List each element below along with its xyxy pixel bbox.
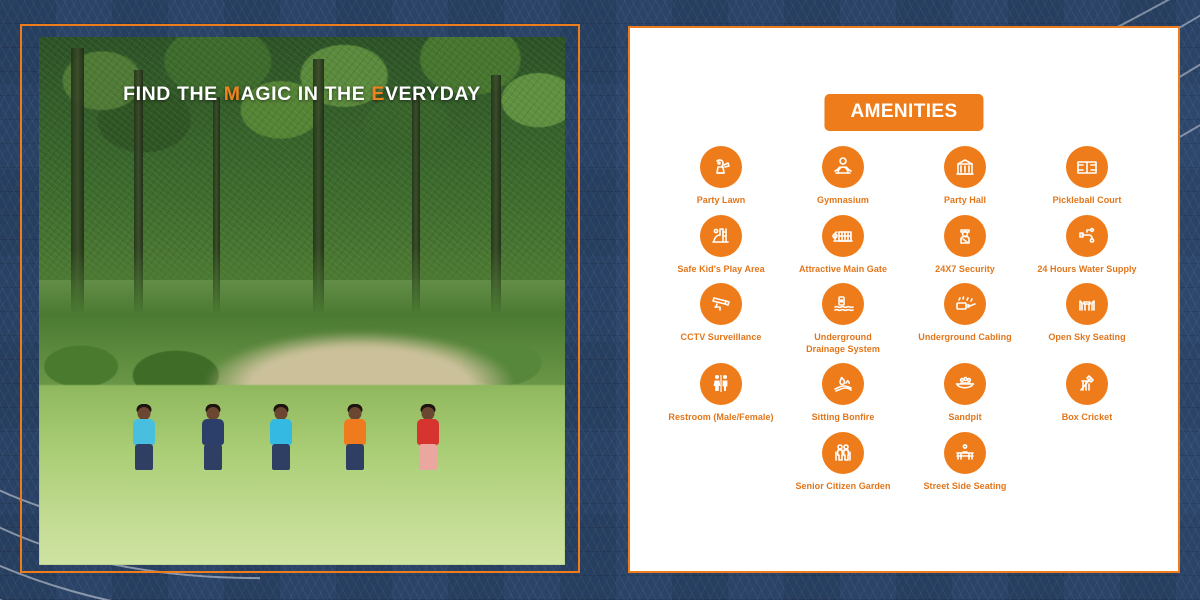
amenity-label: Pickleball Court: [1053, 195, 1122, 207]
sandpit-icon: [944, 363, 986, 405]
amenity-label: Restroom (Male/Female): [668, 412, 773, 424]
amenity-label: Street Side Seating: [924, 481, 1007, 493]
amenities-panel: AMENITIES Party Lawn Gymnasium Party Hal…: [628, 26, 1180, 573]
amenity-label: Box Cricket: [1062, 412, 1113, 424]
restroom-icon: [700, 363, 742, 405]
amenity-item[interactable]: Box Cricket: [1026, 363, 1148, 424]
playground-slide-icon: [700, 215, 742, 257]
amenity-item[interactable]: Attractive Main Gate: [782, 215, 904, 276]
amenity-label: CCTV Surveillance: [681, 332, 762, 344]
headline-part-2: AGIC IN THE: [241, 83, 372, 105]
water-tap-icon: [1066, 215, 1108, 257]
amenity-label: Attractive Main Gate: [799, 264, 887, 276]
amenity-item[interactable]: Underground Cabling: [904, 283, 1026, 355]
amenity-item[interactable]: Safe Kid's Play Area: [660, 215, 782, 276]
open-sky-seating-icon: [1066, 283, 1108, 325]
headline-part-3: VERYDAY: [385, 83, 481, 105]
amenity-label: Party Lawn: [697, 195, 746, 207]
amenity-item[interactable]: Sandpit: [904, 363, 1026, 424]
gymnasium-icon: [822, 146, 864, 188]
amenity-item[interactable]: Senior Citizen Garden: [782, 432, 904, 493]
amenity-item[interactable]: Party Lawn: [660, 146, 782, 207]
amenities-row: CCTV Surveillance UndergroundDrainage Sy…: [630, 283, 1178, 363]
amenity-item[interactable]: Street Side Seating: [904, 432, 1026, 493]
amenity-label: Open Sky Seating: [1048, 332, 1125, 344]
drainage-icon: [822, 283, 864, 325]
hero-photo-frame: FIND THE MAGIC IN THE EVERYDAY: [20, 24, 580, 573]
amenity-label: Party Hall: [944, 195, 986, 207]
security-guard-icon: [944, 215, 986, 257]
amenities-grid: Party Lawn Gymnasium Party Hall Pickleba…: [630, 146, 1178, 500]
amenity-item[interactable]: Open Sky Seating: [1026, 283, 1148, 355]
amenity-item[interactable]: Party Hall: [904, 146, 1026, 207]
bonfire-icon: [822, 363, 864, 405]
amenity-item[interactable]: CCTV Surveillance: [660, 283, 782, 355]
amenity-label: Sitting Bonfire: [812, 412, 875, 424]
pickleball-court-icon: [1066, 146, 1108, 188]
amenity-item[interactable]: Pickleball Court: [1026, 146, 1148, 207]
hero-photo: FIND THE MAGIC IN THE EVERYDAY: [39, 37, 565, 565]
cctv-camera-icon: [700, 283, 742, 325]
amenity-label: 24 Hours Water Supply: [1037, 264, 1136, 276]
amenity-item[interactable]: Sitting Bonfire: [782, 363, 904, 424]
amenities-row: Safe Kid's Play Area Attractive Main Gat…: [630, 215, 1178, 284]
hero-headline: FIND THE MAGIC IN THE EVERYDAY: [39, 83, 565, 106]
amenity-item[interactable]: Gymnasium: [782, 146, 904, 207]
headline-accent-m: M: [224, 83, 241, 105]
amenities-row: Senior Citizen Garden Street Side Seatin…: [630, 432, 1178, 501]
amenity-item[interactable]: UndergroundDrainage System: [782, 283, 904, 355]
amenity-label: Underground Cabling: [918, 332, 1011, 344]
party-lawn-icon: [700, 146, 742, 188]
amenity-item[interactable]: 24X7 Security: [904, 215, 1026, 276]
amenity-label: 24X7 Security: [935, 264, 995, 276]
amenity-item[interactable]: 24 Hours Water Supply: [1026, 215, 1148, 276]
box-cricket-icon: [1066, 363, 1108, 405]
amenity-item[interactable]: Restroom (Male/Female): [660, 363, 782, 424]
photo-grass-foreground: [39, 385, 565, 565]
amenity-label: UndergroundDrainage System: [806, 332, 880, 355]
amenity-label: Sandpit: [948, 412, 981, 424]
party-hall-icon: [944, 146, 986, 188]
amenity-label: Senior Citizen Garden: [795, 481, 890, 493]
headline-part-1: FIND THE: [123, 83, 224, 105]
headline-accent-e: E: [371, 83, 385, 105]
senior-citizen-icon: [822, 432, 864, 474]
amenity-label: Gymnasium: [817, 195, 869, 207]
cable-icon: [944, 283, 986, 325]
amenity-label: Safe Kid's Play Area: [677, 264, 764, 276]
amenities-title-badge: AMENITIES: [824, 94, 983, 131]
amenities-row: Restroom (Male/Female) Sitting Bonfire S…: [630, 363, 1178, 432]
street-side-seating-icon: [944, 432, 986, 474]
poster-canvas: FIND THE MAGIC IN THE EVERYDAY AMENITIES…: [0, 0, 1200, 600]
main-gate-icon: [822, 215, 864, 257]
amenities-row: Party Lawn Gymnasium Party Hall Pickleba…: [630, 146, 1178, 215]
